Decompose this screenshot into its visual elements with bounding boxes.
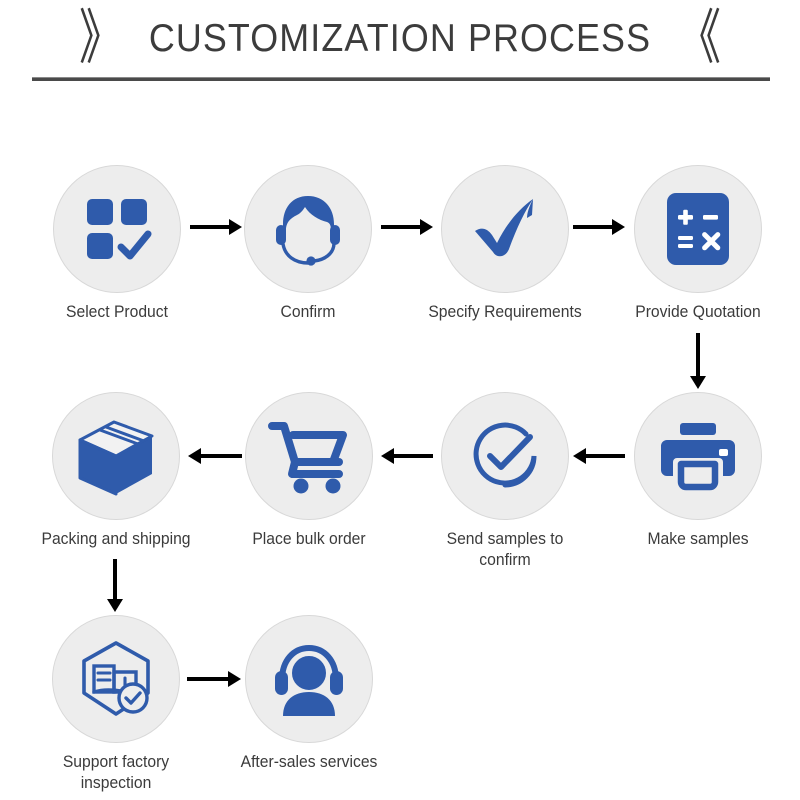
step-icon-circle — [52, 615, 180, 743]
step-label: Place bulk order — [228, 529, 390, 550]
step-label: Select Product — [36, 302, 198, 323]
step-label: Send samples to confirm — [424, 529, 586, 570]
checkmark-icon — [463, 187, 547, 271]
step-icon-circle — [52, 392, 180, 520]
step-label: Packing and shipping — [35, 529, 197, 550]
package-box-icon — [74, 416, 158, 496]
calculator-icon — [663, 190, 733, 268]
step-select-product[interactable]: Select Product — [32, 165, 202, 323]
step-support-factory-inspection[interactable]: Support factory inspection — [31, 615, 201, 793]
printer-icon — [657, 420, 739, 492]
circle-check-icon — [464, 415, 546, 497]
headphones-user-icon — [267, 640, 351, 718]
step-icon-circle — [245, 392, 373, 520]
arrow-quotation-to-make-samples — [690, 333, 706, 389]
shopping-cart-icon — [268, 418, 350, 494]
step-place-bulk-order[interactable]: Place bulk order — [224, 392, 394, 550]
step-confirm[interactable]: Confirm — [223, 165, 393, 323]
step-specify-requirements[interactable]: Specify Requirements — [420, 165, 590, 323]
arrow-packing-to-inspection — [107, 559, 123, 612]
chevron-left-double-icon: 《 — [677, 9, 721, 68]
step-label: Make samples — [617, 529, 779, 550]
step-label: Confirm — [227, 302, 389, 323]
step-icon-circle — [441, 392, 569, 520]
step-send-samples-to-confirm[interactable]: Send samples to confirm — [420, 392, 590, 570]
step-provide-quotation[interactable]: Provide Quotation — [613, 165, 783, 323]
step-make-samples[interactable]: Make samples — [613, 392, 783, 550]
step-icon-circle — [244, 165, 372, 293]
chevron-right-double-icon: 》 — [79, 9, 123, 68]
step-label: Specify Requirements — [424, 302, 586, 323]
step-packing-and-shipping[interactable]: Packing and shipping — [31, 392, 201, 550]
step-after-sales-services[interactable]: After-sales services — [224, 615, 394, 773]
page-title: 》 CUSTOMIZATION PROCESS 《 — [0, 8, 800, 70]
headset-agent-icon — [267, 188, 349, 270]
step-icon-circle — [634, 392, 762, 520]
step-label: After-sales services — [228, 752, 390, 773]
step-icon-circle — [634, 165, 762, 293]
grid-check-icon — [79, 191, 155, 267]
factory-shield-check-icon — [75, 638, 157, 720]
step-label: Provide Quotation — [617, 302, 779, 323]
page-header: 》 CUSTOMIZATION PROCESS 《 — [0, 0, 800, 92]
header-divider — [32, 77, 770, 81]
step-icon-circle — [245, 615, 373, 743]
page-title-text: CUSTOMIZATION PROCESS — [149, 17, 651, 61]
step-icon-circle — [441, 165, 569, 293]
step-icon-circle — [53, 165, 181, 293]
step-label: Support factory inspection — [35, 752, 197, 793]
